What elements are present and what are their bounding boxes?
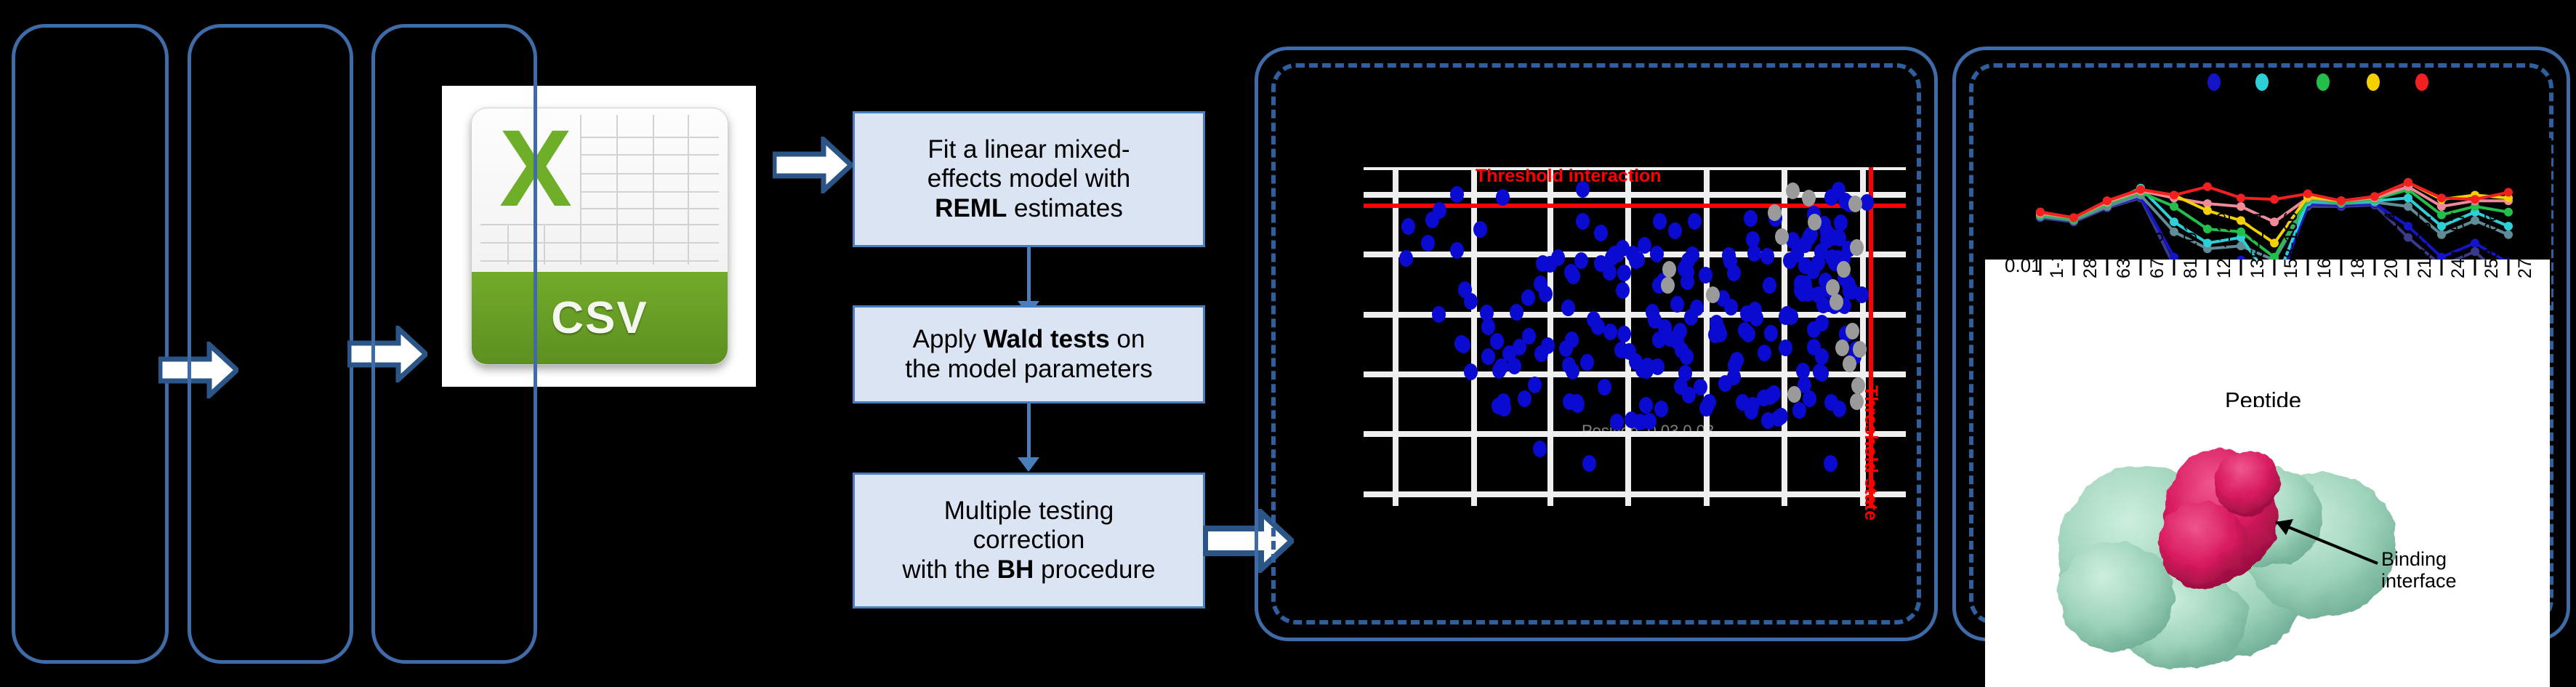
scatter-point <box>1661 277 1675 294</box>
scatter-point <box>1651 358 1665 375</box>
scatter-point <box>1605 249 1619 266</box>
scatter-points-layer <box>1364 167 1906 516</box>
chart-data-point <box>2303 190 2312 198</box>
scatter-point <box>1653 213 1667 230</box>
chart-data-point <box>2504 188 2513 197</box>
scatter-point <box>1682 387 1696 403</box>
scatter-point <box>1571 396 1585 413</box>
scatter-point <box>1650 246 1664 262</box>
scatter-point <box>1851 377 1865 394</box>
scatter-point <box>1533 441 1547 457</box>
flow-step-1: Fit a linear mixed- effects model with R… <box>853 111 1205 247</box>
chart-data-point <box>2504 222 2513 230</box>
scatter-point <box>1787 386 1801 403</box>
scatter-point <box>1521 289 1535 306</box>
scatter-point <box>1670 296 1684 313</box>
scatter-point <box>1802 230 1816 246</box>
peptide-tick-label: 135-144 <box>2247 212 2269 278</box>
chart-data-point <box>2270 195 2279 204</box>
chart-data-point <box>2437 230 2446 239</box>
scatter-point <box>1807 321 1821 338</box>
chart-data-point <box>2437 193 2446 202</box>
scatter-point <box>1690 300 1704 316</box>
chart-data-point <box>2136 185 2145 194</box>
scatter-point <box>1490 333 1504 350</box>
scatter-point <box>1848 196 1862 212</box>
legend-dot-3 <box>2317 73 2330 91</box>
scatter-point <box>1494 358 1508 375</box>
arrow-to-step-1 <box>773 137 853 193</box>
chart-data-point <box>2237 193 2245 202</box>
protein-structure-card: Binding interface <box>1985 407 2550 687</box>
scatter-point <box>1744 403 1758 419</box>
scatter-point <box>1738 322 1752 339</box>
flow-step-2: Apply Wald tests on the model parameters <box>853 305 1205 403</box>
scatter-point <box>1454 335 1468 352</box>
chart-data-point <box>2504 230 2513 239</box>
peptide-tick-label: 1-15 <box>2047 242 2068 278</box>
peptide-tick-label: 67-75 <box>2147 232 2168 278</box>
step3-pre: with the <box>902 555 997 584</box>
scatter-point <box>1724 299 1738 316</box>
chart-data-point <box>2170 228 2178 236</box>
legend-dot-1 <box>2207 73 2221 91</box>
legend-dot-5 <box>2415 73 2428 91</box>
flow-step-3: Multiple testing correction with the BH … <box>853 473 1205 608</box>
scatter-point <box>1764 325 1778 342</box>
chart-data-point <box>2170 190 2178 199</box>
scatter-point <box>1794 275 1808 292</box>
step2-pre: Apply <box>913 325 983 353</box>
scatter-point <box>1464 363 1478 380</box>
chart-data-point <box>2437 222 2446 230</box>
scatter-point <box>1835 340 1849 356</box>
scatter-point <box>1580 354 1594 371</box>
scatter-point <box>1616 282 1630 299</box>
chart-data-point <box>2471 195 2479 204</box>
scatter-point <box>1587 311 1601 328</box>
scatter-point <box>1432 306 1446 323</box>
peptide-axis-card: 1-1528-4463-7367-7581-101122-129135-1441… <box>1985 260 2550 422</box>
scatter-point <box>1806 262 1820 279</box>
scatter-point <box>1481 348 1495 365</box>
scatter-point <box>1783 252 1797 269</box>
peptide-tick-label: 258-266 <box>2482 212 2503 278</box>
scatter-point <box>1480 305 1494 321</box>
scatter-point <box>1771 410 1785 427</box>
scatter-point <box>1643 413 1657 430</box>
scatter-point <box>1646 304 1659 321</box>
scatter-point <box>1775 228 1789 245</box>
scatter-point <box>1534 276 1547 292</box>
scatter-point <box>1796 363 1810 379</box>
scatter-point <box>1830 294 1843 310</box>
step2-line2: the model parameters <box>905 355 1152 383</box>
peptide-tick-label: 28-44 <box>2080 232 2101 278</box>
scatter-point <box>1536 255 1550 272</box>
scatter-point <box>1718 375 1732 392</box>
scatter-point <box>1768 204 1782 221</box>
scatter-point <box>1518 390 1531 407</box>
legend-dot-2 <box>2255 73 2269 91</box>
scatter-point <box>1496 189 1510 206</box>
scatter-point <box>1576 213 1590 230</box>
scatter-point <box>1727 265 1741 281</box>
scatter-point <box>1758 345 1771 361</box>
chart-data-point <box>2170 217 2178 226</box>
binding-interface-annotation: Binding interface <box>2381 549 2457 592</box>
peptide-tick-label: 184-199 <box>2348 212 2369 278</box>
chart-data-point <box>2404 193 2412 202</box>
scatter-point <box>1598 379 1611 395</box>
chart-data-point <box>2504 208 2513 217</box>
chart-data-point <box>2270 238 2279 247</box>
csv-band-label: CSV <box>551 292 648 344</box>
scatter-point <box>1610 414 1624 430</box>
scatter-point <box>1713 326 1727 342</box>
scatter-point <box>1617 265 1631 281</box>
chart-data-point <box>2170 202 2178 211</box>
chart-data-point <box>2237 228 2245 236</box>
scatter-point <box>1654 401 1668 417</box>
scatter-point <box>1760 248 1774 265</box>
connector-step2-step3-arrowhead <box>1018 457 1039 472</box>
scatter-point <box>1699 267 1712 284</box>
chart-data-point <box>2203 238 2212 247</box>
scatter-point <box>1425 212 1439 228</box>
peptide-tick-label: 81-101 <box>2181 222 2202 278</box>
scatter-point <box>1686 246 1699 263</box>
binding-interface-line1: Binding <box>2381 549 2457 571</box>
workflow-diagram: X CSV Fit a linear mixed- effects model … <box>0 0 2576 687</box>
chart-data-point <box>2370 192 2379 201</box>
scatter-point <box>1473 221 1487 238</box>
panel-model <box>371 24 537 664</box>
scatter-point <box>1784 308 1798 325</box>
step3-post: procedure <box>1034 555 1155 584</box>
scatter-point <box>1706 286 1720 303</box>
scatter-point <box>1824 394 1838 411</box>
chart-data-point <box>2203 182 2212 191</box>
chart-data-point <box>2237 216 2245 225</box>
scatter-point <box>1662 261 1676 278</box>
scatter-point <box>1846 323 1859 340</box>
scatter-point <box>1740 305 1754 322</box>
scatter-point <box>1450 186 1464 203</box>
chart-data-point <box>2270 217 2279 226</box>
scatter-point <box>1510 304 1524 321</box>
peptide-tick-label: 167-180 <box>2314 212 2335 278</box>
chart-data-point <box>2404 233 2412 242</box>
chart-data-point <box>2471 238 2479 247</box>
scatter-point <box>1722 247 1736 264</box>
step3-line1: Multiple testing <box>944 497 1114 525</box>
scatter-point <box>1450 242 1464 259</box>
scatter-point <box>1399 250 1413 267</box>
chart-data-point <box>2404 202 2412 211</box>
scatter-point <box>1421 235 1435 252</box>
chart-data-point <box>2203 206 2212 215</box>
scatter-point <box>1860 194 1874 211</box>
scatter-point <box>1565 332 1579 348</box>
scatter-point <box>1763 277 1776 294</box>
scatter-point <box>1843 355 1856 372</box>
scatter-point <box>1668 222 1682 239</box>
scatter-point <box>1594 225 1608 241</box>
chart-data-point <box>2404 178 2412 187</box>
scatter-point <box>1850 393 1864 410</box>
chart-data-point <box>2069 213 2078 222</box>
scatter-point <box>1401 218 1415 235</box>
connector-step2-step3 <box>1027 403 1031 460</box>
scatter-point <box>1786 182 1800 199</box>
peptide-tick-label: 122-129 <box>2214 212 2235 278</box>
scatter-point <box>1694 379 1707 395</box>
scatter-point <box>1850 239 1864 256</box>
scatter-point <box>1566 268 1580 284</box>
scatter-point <box>1617 326 1631 342</box>
connector-step1-step2 <box>1027 247 1031 304</box>
scatter-point <box>1824 455 1838 472</box>
scatter-point <box>1678 365 1692 382</box>
scatter-point <box>1730 352 1744 369</box>
step1-line2: effects model with <box>927 164 1131 193</box>
scatter-point <box>1561 300 1575 316</box>
chart-data-point <box>2471 247 2479 256</box>
scatter-point <box>1744 210 1758 227</box>
scatter-point <box>1808 214 1822 230</box>
chart-data-point <box>2337 196 2346 205</box>
step3-line2: correction <box>973 526 1085 554</box>
scatter-point <box>1603 324 1617 340</box>
scatter-point <box>1834 214 1848 231</box>
chart-data-point <box>2437 211 2446 220</box>
binding-interface-line2: interface <box>2381 571 2457 592</box>
chart-data-point <box>2103 196 2112 205</box>
chart-data-point <box>2036 208 2045 217</box>
scatter-point <box>1843 283 1856 300</box>
scatter-point <box>1639 397 1653 414</box>
scatter-point <box>1582 455 1596 472</box>
panel-csv <box>188 24 353 664</box>
step2-bold: Wald tests <box>983 325 1110 353</box>
scatter-point <box>1541 337 1555 354</box>
step1-line3: estimates <box>1007 194 1123 222</box>
chart-data-point <box>2404 222 2412 230</box>
scatter-point <box>1508 358 1521 374</box>
scatter-point <box>1688 213 1702 230</box>
chart-data-point <box>2203 225 2212 233</box>
panel-input <box>12 24 169 664</box>
peptide-tick-label: 200-214 <box>2381 212 2402 278</box>
scatter-point <box>1802 190 1816 206</box>
step3-bold: BH <box>997 555 1034 584</box>
step2-post: on <box>1110 325 1146 353</box>
scatter-point <box>1663 330 1677 347</box>
peptide-tick-label: 158-166 <box>2281 212 2302 278</box>
step1-bold: REML <box>935 194 1007 222</box>
scatter-point <box>1837 261 1851 278</box>
peptide-tick-label: 241-257 <box>2448 212 2469 278</box>
scatter-point <box>1779 340 1792 356</box>
scatter-point <box>1820 232 1834 249</box>
scatter-point <box>1763 388 1777 405</box>
scatter-point <box>1807 339 1821 355</box>
scatter-point <box>1855 286 1869 303</box>
legend-dot-4 <box>2367 73 2380 91</box>
chart-data-point <box>2471 216 2479 225</box>
scatter-point <box>1853 341 1867 358</box>
peptide-tick-label: 63-73 <box>2114 232 2135 278</box>
scatter-point <box>1576 181 1590 198</box>
peptide-tick-label: 218-237 <box>2415 212 2436 278</box>
scatter-point <box>1792 402 1806 419</box>
scatter-point <box>1699 400 1713 417</box>
chart-data-point <box>2237 202 2245 211</box>
y-tick-label-0: 0.01 <box>2005 254 2042 277</box>
scatter-point <box>1513 339 1526 355</box>
scatter-point <box>1681 273 1694 290</box>
scatter-point <box>1528 377 1542 393</box>
peptide-tick-label: 277-284 <box>2515 212 2536 278</box>
step1-line1: Fit a linear mixed- <box>927 135 1130 164</box>
scatter-point <box>1747 245 1761 262</box>
